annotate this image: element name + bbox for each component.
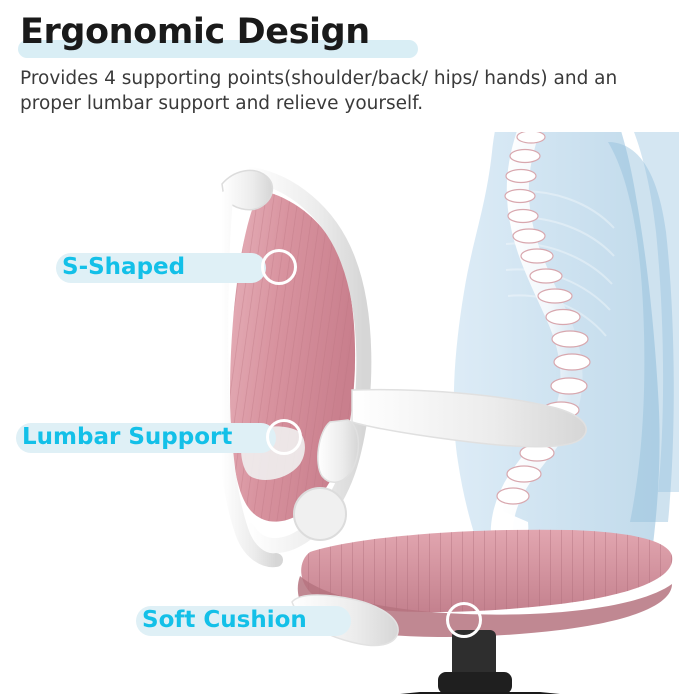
callout-soft-cushion: Soft Cushion	[136, 600, 307, 640]
callout-label: Lumbar Support	[16, 424, 232, 450]
header: Ergonomic Design Provides 4 supporting p…	[0, 0, 679, 132]
callout-lumbar-support: Lumbar Support	[16, 417, 232, 457]
product-infographic: Ergonomic Design Provides 4 supporting p…	[0, 0, 679, 694]
product-scene: S-Shaped Lumbar Support Soft Cushion	[0, 132, 679, 694]
highlight-ring-icon	[261, 249, 297, 285]
armrest-pivot-knob	[294, 488, 346, 540]
chair-base-column	[400, 630, 560, 694]
highlight-ring-icon	[446, 602, 482, 638]
callout-label: S-Shaped	[56, 254, 185, 280]
page-subtitle: Provides 4 supporting points(shoulder/ba…	[20, 66, 620, 116]
callout-label: Soft Cushion	[136, 607, 307, 633]
callout-s-shaped: S-Shaped	[56, 247, 185, 287]
highlight-ring-icon	[266, 419, 302, 455]
page-title: Ergonomic Design	[20, 12, 370, 52]
